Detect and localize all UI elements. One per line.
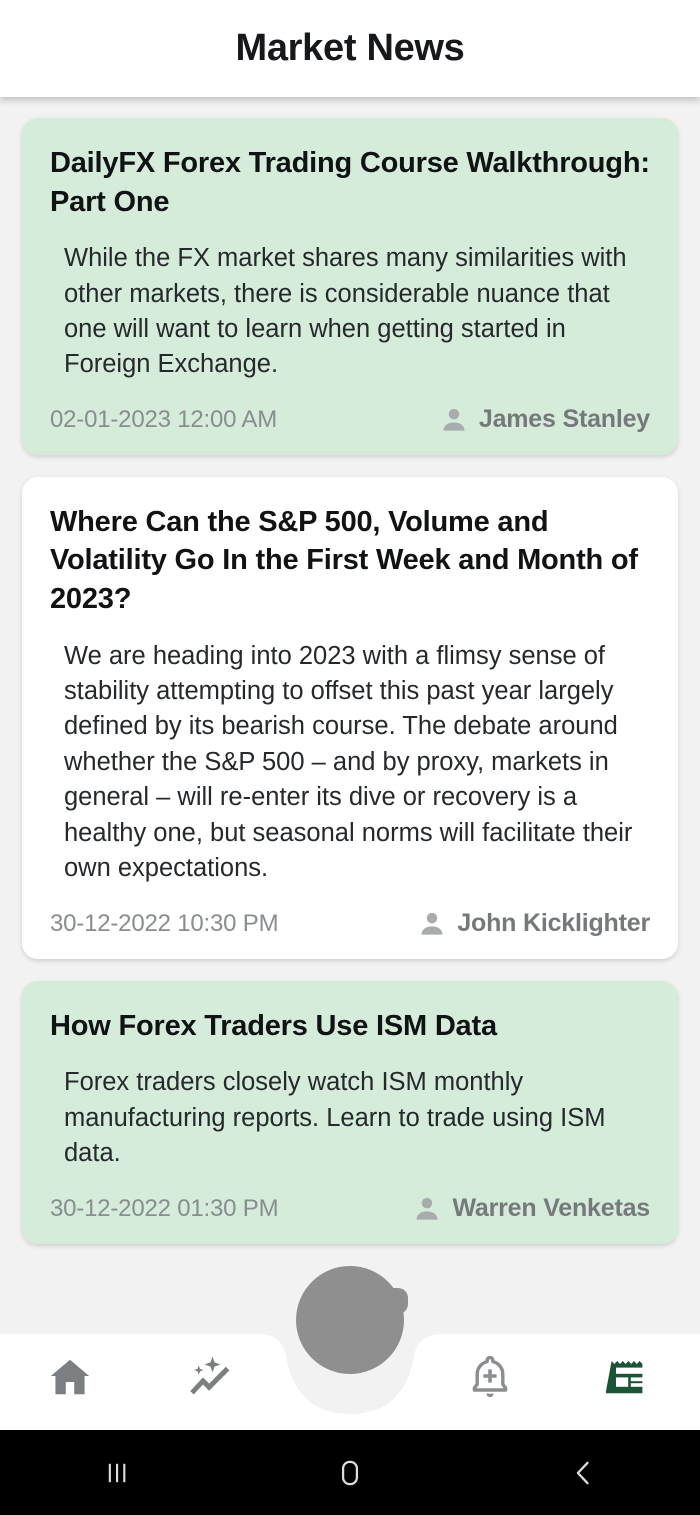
app-bar: Market News	[0, 0, 700, 97]
news-card-date: 30-12-2022 01:30 PM	[50, 1195, 278, 1223]
news-card[interactable]: Where Can the S&P 500, Volume and Volati…	[22, 477, 678, 959]
news-card-author: John Kicklighter	[457, 909, 650, 938]
news-card-summary: While the FX market shares many similari…	[50, 241, 650, 383]
news-card-footer: 02-01-2023 12:00 AM James Stanley	[50, 405, 650, 435]
news-card-author: James Stanley	[479, 405, 650, 434]
news-card-summary: We are heading into 2023 with a flimsy s…	[50, 639, 650, 887]
news-card-date: 30-12-2022 10:30 PM	[50, 910, 278, 938]
nav-item-add-alert[interactable]	[420, 1318, 560, 1430]
nav-item-home[interactable]	[0, 1318, 140, 1430]
back-icon	[566, 1456, 600, 1490]
person-icon	[439, 405, 469, 435]
page-title: Market News	[235, 27, 464, 70]
news-card-summary: Forex traders closely watch ISM monthly …	[50, 1065, 650, 1171]
news-card-title: DailyFX Forex Trading Course Walkthrough…	[50, 144, 650, 221]
news-card-author-group: James Stanley	[439, 405, 650, 435]
add-alert-bell-icon	[466, 1353, 514, 1401]
nav-item-insights[interactable]	[140, 1318, 280, 1430]
recents-icon	[100, 1456, 134, 1490]
news-card-author-group: John Kicklighter	[417, 909, 650, 939]
system-back-button[interactable]	[467, 1456, 700, 1490]
news-card-title: How Forex Traders Use ISM Data	[50, 1007, 650, 1046]
news-list[interactable]: DailyFX Forex Trading Course Walkthrough…	[0, 97, 700, 1320]
news-card-footer: 30-12-2022 10:30 PM John Kicklighter	[50, 909, 650, 939]
nav-item-news[interactable]	[560, 1318, 700, 1430]
system-home-button[interactable]	[233, 1455, 466, 1491]
app-screen: Market News DailyFX Forex Trading Course…	[0, 0, 700, 1515]
news-card-author: Warren Venketas	[452, 1194, 650, 1223]
news-article-icon	[606, 1353, 654, 1401]
system-recents-button[interactable]	[0, 1456, 233, 1490]
home-icon	[332, 1455, 368, 1491]
person-icon	[412, 1194, 442, 1224]
news-card-author-group: Warren Venketas	[412, 1194, 650, 1224]
home-icon	[47, 1354, 93, 1400]
news-card[interactable]: How Forex Traders Use ISM Data Forex tra…	[22, 981, 678, 1244]
news-card-footer: 30-12-2022 01:30 PM Warren Venketas	[50, 1194, 650, 1224]
news-card[interactable]: DailyFX Forex Trading Course Walkthrough…	[22, 118, 678, 455]
news-card-title: Where Can the S&P 500, Volume and Volati…	[50, 503, 650, 619]
insights-sparkle-icon	[185, 1352, 235, 1402]
system-navigation-bar	[0, 1430, 700, 1515]
floating-action-button[interactable]	[296, 1266, 404, 1374]
news-card-date: 02-01-2023 12:00 AM	[50, 406, 277, 434]
fab-bump-decoration	[386, 1288, 408, 1314]
person-icon	[417, 909, 447, 939]
